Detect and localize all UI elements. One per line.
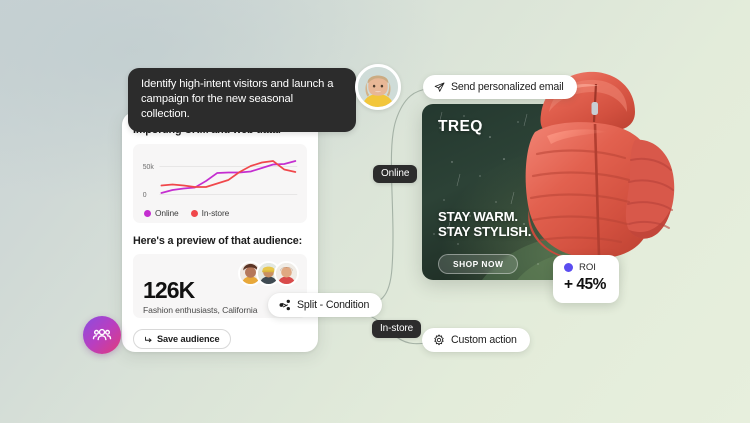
roi-value: + 45% — [564, 276, 606, 294]
node-split-condition[interactable]: Split - Condition — [268, 293, 382, 317]
svg-text:50k: 50k — [143, 163, 154, 171]
svg-text:0: 0 — [143, 191, 147, 199]
legend-item-in-store: In-store — [191, 208, 230, 218]
paper-plane-icon — [434, 82, 445, 93]
canvas: Identify high-intent visitors and launch… — [0, 0, 750, 423]
save-audience-button[interactable]: Save audience — [133, 329, 231, 349]
legend-item-online: Online — [144, 208, 179, 218]
node-email-label: Send personalized email — [451, 81, 564, 93]
audience-persona-button[interactable] — [83, 316, 121, 354]
avatar — [274, 261, 299, 286]
node-send-personalized-email[interactable]: Send personalized email — [423, 75, 577, 99]
prompt-bubble: Identify high-intent visitors and launch… — [128, 68, 356, 132]
node-custom-action[interactable]: Custom action — [422, 328, 530, 352]
roi-header: ROI — [564, 262, 606, 273]
node-custom-label: Custom action — [451, 334, 517, 346]
branch-label-online: Online — [373, 165, 417, 183]
legend-label-in-store: In-store — [202, 208, 230, 218]
people-group-icon — [92, 325, 112, 345]
roi-badge: ROI + 45% — [553, 255, 619, 303]
line-chart: 50k 0 — [139, 151, 301, 203]
ad-brand-logo: TREQ — [438, 118, 483, 136]
audience-avatar-group — [238, 261, 299, 286]
share-nodes-icon — [279, 299, 291, 311]
save-audience-label: Save audience — [157, 334, 220, 344]
avatar — [355, 64, 401, 110]
chart-legend: Online In-store — [139, 208, 301, 218]
gear-icon — [433, 334, 445, 346]
product-image-puffer-jacket — [495, 70, 680, 285]
branch-label-in-store: In-store — [372, 320, 421, 338]
roi-label: ROI — [579, 262, 596, 273]
audience-preview-title: Here's a preview of that audience: — [133, 235, 307, 247]
legend-dot-online — [144, 210, 151, 217]
legend-label-online: Online — [155, 208, 179, 218]
node-split-label: Split - Condition — [297, 299, 369, 311]
chart-container: 50k 0 Online In-store — [133, 144, 307, 223]
arrow-turn-down-right-icon — [144, 335, 153, 344]
prompt-text: Identify high-intent visitors and launch… — [141, 78, 333, 120]
legend-dot-in-store — [191, 210, 198, 217]
roi-indicator-dot — [564, 263, 573, 272]
